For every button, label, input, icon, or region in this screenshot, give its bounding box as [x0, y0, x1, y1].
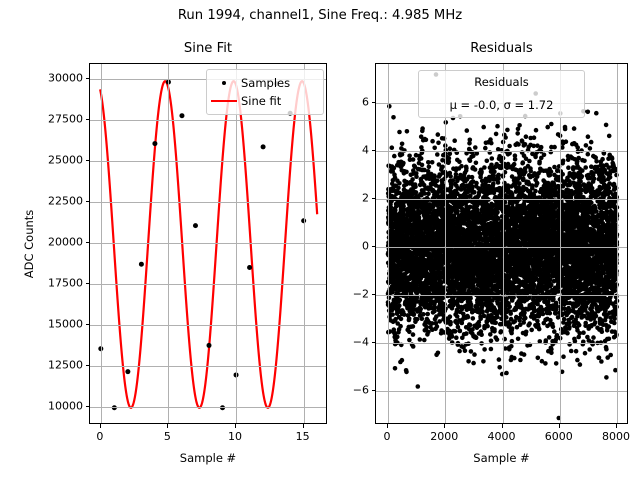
residual-point: [395, 335, 400, 340]
residual-point: [517, 181, 522, 186]
sample-point: [207, 343, 212, 348]
sample-point: [247, 265, 252, 270]
residual-point: [404, 170, 409, 175]
residual-point: [412, 312, 417, 317]
residual-point: [466, 315, 471, 320]
residual-point: [449, 184, 454, 189]
residual-point: [424, 138, 429, 143]
residual-point: [465, 128, 470, 133]
sine-fit-y-tick: [86, 201, 90, 202]
residual-point: [426, 330, 431, 335]
residual-point: [396, 186, 401, 191]
residual-point: [440, 165, 445, 170]
residual-point: [411, 332, 416, 337]
residual-point: [471, 316, 476, 321]
residual-point: [450, 334, 455, 339]
sine-fit-y-tick: [86, 160, 90, 161]
sine-fit-gridline-horizontal: [90, 325, 326, 326]
sine-fit-gridline-horizontal: [90, 161, 326, 162]
residual-point: [407, 316, 412, 321]
sample-point: [193, 223, 198, 228]
sine-fit-axes: [89, 63, 327, 424]
residual-point: [397, 130, 402, 135]
sample-point: [261, 144, 266, 149]
residual-point: [448, 314, 453, 319]
residual-point: [480, 309, 485, 314]
sample-point: [179, 113, 184, 118]
residual-point: [466, 359, 471, 364]
residual-point: [469, 349, 474, 354]
residual-point: [418, 337, 423, 342]
residual-point: [523, 170, 528, 175]
sine-fit-y-tick: [86, 242, 90, 243]
residual-point: [497, 365, 502, 370]
sine-fit-y-tick: [86, 119, 90, 120]
residual-point: [492, 327, 497, 332]
residual-point: [430, 160, 435, 165]
residual-point: [448, 320, 453, 325]
residual-point: [455, 314, 460, 319]
residual-point: [413, 185, 418, 190]
sine-fit-gridline-horizontal: [90, 243, 326, 244]
residual-point: [503, 346, 508, 351]
residual-point: [454, 335, 459, 340]
residual-point: [407, 338, 412, 343]
residual-point: [475, 151, 480, 156]
left-plot-title: Sine Fit: [89, 41, 327, 56]
residual-point: [481, 359, 486, 364]
residual-point: [464, 166, 469, 171]
residual-point: [407, 330, 412, 335]
residual-point: [420, 163, 425, 168]
residual-point: [517, 123, 522, 128]
residual-point: [401, 200, 406, 205]
sine-fit-y-ticklabel: 27500: [25, 112, 83, 125]
right-plot-title: Residuals: [375, 41, 628, 56]
residual-point: [393, 208, 398, 213]
figure-suptitle: Run 1994, channel1, Sine Freq.: 4.985 MH…: [0, 8, 640, 23]
residual-point: [489, 347, 494, 352]
residual-point: [524, 330, 529, 335]
sine-fit-x-tick: [100, 424, 101, 428]
sine-fit-y-tick: [86, 406, 90, 407]
residual-point: [436, 351, 441, 356]
residual-point: [458, 329, 463, 334]
residual-point: [516, 142, 521, 147]
residual-point: [424, 325, 429, 330]
residual-point: [509, 344, 514, 349]
sine-fit-x-ticklabel: 10: [228, 430, 242, 443]
sine-fit-canvas: [90, 64, 327, 424]
residual-point: [421, 312, 426, 317]
residual-point: [397, 303, 402, 308]
residual-point: [416, 384, 421, 389]
residual-point: [452, 138, 457, 143]
residual-point: [420, 316, 425, 321]
residual-point: [485, 159, 490, 164]
residual-point: [430, 139, 435, 144]
residual-point: [420, 126, 425, 131]
sine-fit-y-tick: [86, 78, 90, 79]
residual-point: [432, 174, 437, 179]
sine-fit-x-ticklabel: 0: [96, 430, 103, 443]
residual-point: [411, 344, 416, 349]
residual-point: [435, 179, 440, 184]
residual-point: [485, 320, 490, 325]
residual-point: [522, 352, 527, 357]
residual-point: [400, 152, 405, 157]
residual-point: [436, 141, 441, 146]
sine-fit-legend: Samples Sine fit: [206, 69, 324, 115]
left-y-axis-label: ADC Counts: [22, 144, 36, 344]
residual-point: [474, 161, 479, 166]
residual-point: [400, 358, 405, 363]
residual-point: [427, 165, 432, 170]
residual-point: [512, 162, 517, 167]
residual-point: [504, 315, 509, 320]
residual-point: [496, 173, 501, 178]
sine-fit-y-tick: [86, 283, 90, 284]
sample-point: [152, 141, 157, 146]
residual-point: [472, 190, 477, 195]
residual-point: [477, 324, 482, 329]
sine-fit-line: [100, 81, 317, 408]
residual-point: [508, 311, 513, 316]
residual-point: [516, 337, 521, 342]
residual-point: [397, 181, 402, 186]
residual-point: [415, 317, 420, 322]
sine-fit-x-tick: [235, 424, 236, 428]
residual-point: [473, 145, 478, 150]
sine-fit-y-ticklabel: 30000: [25, 71, 83, 84]
residual-point: [469, 302, 474, 307]
residual-point: [390, 145, 395, 150]
residual-point: [481, 125, 486, 130]
residual-point: [414, 190, 419, 195]
residual-point: [418, 307, 423, 312]
residual-point: [474, 335, 479, 340]
residual-point: [485, 324, 490, 329]
residual-point: [494, 132, 499, 137]
sine-fit-x-tick: [303, 424, 304, 428]
residual-point: [391, 115, 396, 120]
residual-point: [512, 356, 517, 361]
residual-point: [405, 129, 410, 134]
residual-point: [522, 311, 527, 316]
residual-point: [513, 157, 518, 162]
sine-fit-gridline-horizontal: [90, 284, 326, 285]
sine-fit-y-ticklabel: 12500: [25, 358, 83, 371]
residual-point: [491, 181, 496, 186]
sine-fit-x-tick: [167, 424, 168, 428]
residual-point: [497, 357, 502, 362]
residual-point: [503, 135, 508, 140]
residual-point: [410, 177, 415, 182]
scatter-marker-icon: [207, 81, 241, 85]
residual-point: [459, 164, 464, 169]
residual-point: [426, 192, 431, 197]
residual-point: [432, 146, 437, 151]
residual-point: [472, 352, 477, 357]
residual-point: [400, 142, 405, 147]
residual-point: [404, 370, 409, 375]
residual-point: [479, 332, 484, 337]
residual-point: [523, 316, 528, 321]
residual-point: [398, 324, 403, 329]
residual-point: [392, 154, 397, 159]
residual-point: [436, 132, 441, 137]
residual-point: [414, 174, 419, 179]
residual-point: [455, 209, 460, 214]
residual-point: [463, 348, 468, 353]
line-marker-icon: [207, 100, 241, 102]
sine-fit-gridline-horizontal: [90, 366, 326, 367]
sine-fit-y-ticklabel: 10000: [25, 399, 83, 412]
sample-point: [139, 262, 144, 267]
residual-point: [470, 175, 475, 180]
residual-point: [433, 305, 438, 310]
residual-point: [507, 144, 512, 149]
residual-point: [457, 349, 462, 354]
residual-point: [411, 157, 416, 162]
residual-point: [492, 170, 497, 175]
sine-fit-x-ticklabel: 15: [296, 430, 310, 443]
legend-label-sine-fit: Sine fit: [241, 94, 288, 108]
residual-point: [493, 321, 498, 326]
residual-point: [448, 174, 453, 179]
residual-point: [474, 181, 479, 186]
residual-point: [523, 142, 528, 147]
residual-point: [453, 329, 458, 334]
residual-point: [471, 361, 476, 366]
residual-point: [510, 192, 515, 197]
residual-point: [401, 161, 406, 166]
residual-point: [398, 298, 403, 303]
sine-fit-gridline-horizontal: [90, 407, 326, 408]
residual-point: [399, 317, 404, 322]
residual-point: [518, 358, 523, 363]
residual-point: [390, 312, 395, 317]
residual-point: [510, 326, 515, 331]
residual-point: [479, 169, 484, 174]
sine-fit-gridline-horizontal: [90, 202, 326, 203]
residual-point: [457, 160, 462, 165]
left-x-axis-label: Sample #: [89, 451, 327, 465]
sample-point: [125, 369, 130, 374]
residual-point: [521, 160, 526, 165]
residual-point: [468, 138, 473, 143]
residual-point: [504, 371, 509, 376]
residual-point: [495, 124, 500, 129]
residual-point: [495, 337, 500, 342]
residual-point: [482, 165, 487, 170]
residual-point: [468, 323, 473, 328]
residual-point: [435, 324, 440, 329]
sine-fit-y-tick: [86, 365, 90, 366]
residual-point: [495, 210, 500, 215]
sine-fit-y-tick: [86, 324, 90, 325]
residual-point: [419, 156, 424, 161]
residual-point: [507, 151, 512, 156]
residual-point: [464, 331, 469, 336]
residual-point: [411, 324, 416, 329]
residual-point: [495, 315, 500, 320]
residual-point: [447, 156, 452, 161]
sine-fit-gridline-horizontal: [90, 120, 326, 121]
residual-point: [425, 312, 430, 317]
residual-point: [435, 152, 440, 157]
residual-point: [524, 134, 529, 139]
residual-point: [422, 338, 427, 343]
residual-point: [505, 128, 510, 133]
residual-point: [489, 141, 494, 146]
residual-point: [482, 347, 487, 352]
residual-point: [407, 154, 412, 159]
residual-point: [393, 366, 398, 371]
residual-point: [490, 156, 495, 161]
residual-point: [507, 305, 512, 310]
sine-fit-x-ticklabel: 5: [164, 430, 171, 443]
legend-entry-samples: Samples: [207, 74, 323, 92]
matplotlib-figure: Run 1994, channel1, Sine Freq.: 4.985 MH…: [0, 0, 640, 480]
residual-point: [473, 167, 478, 172]
residual-point: [448, 152, 453, 157]
legend-entry-sine-fit: Sine fit: [207, 92, 323, 110]
residual-point: [515, 131, 520, 136]
legend-label-samples: Samples: [241, 76, 297, 90]
